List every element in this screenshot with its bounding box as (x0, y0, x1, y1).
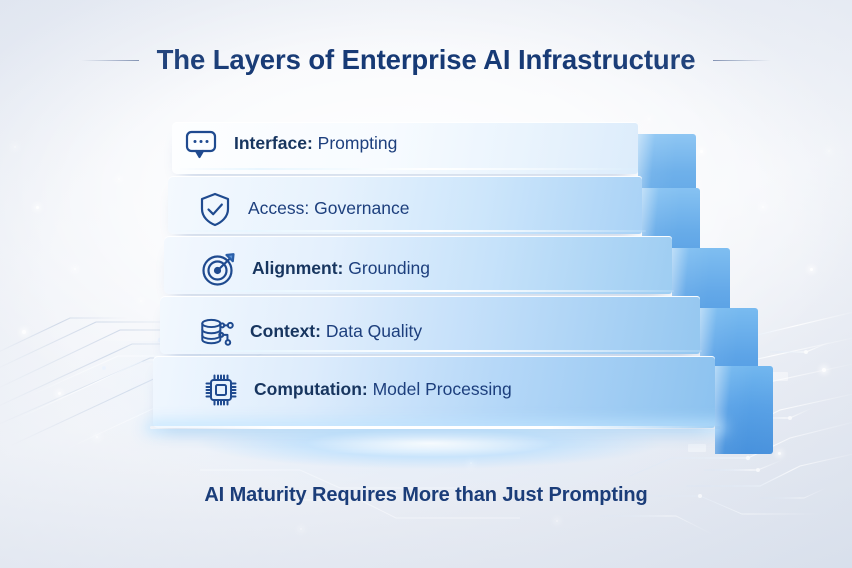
layer-row-computation[interactable]: Computation: Model Processing (202, 371, 512, 409)
slab-interface-top-edge (176, 168, 638, 170)
layer-label-alignment: Alignment: Grounding (252, 260, 430, 278)
slab-access-top-edge (170, 230, 646, 232)
slab-computation-bottom-edge (150, 426, 720, 429)
layer-row-interface[interactable]: Interface: Prompting (182, 125, 397, 163)
layer-label-bold: Alignment: (252, 258, 343, 278)
layer-label-bold: Context: (250, 321, 321, 341)
database-network-icon (198, 313, 236, 351)
layer-row-access[interactable]: Access: Governance (196, 190, 409, 228)
speech-bubble-icon (182, 125, 220, 163)
footer-subtitle: AI Maturity Requires More than Just Prom… (0, 484, 852, 507)
layer-label-computation: Computation: Model Processing (254, 381, 512, 399)
slab-side-face (715, 366, 773, 454)
layer-label-rest: Data Quality (321, 321, 422, 341)
layer-label-bold: Access: (248, 198, 309, 218)
cpu-chip-icon (202, 371, 240, 409)
layer-label-rest: Prompting (313, 133, 398, 153)
layer-label-context: Context: Data Quality (250, 323, 422, 341)
target-arrow-icon (200, 250, 238, 288)
shield-check-icon (196, 190, 234, 228)
layer-row-context[interactable]: Context: Data Quality (198, 313, 422, 351)
slab-computation-side (715, 366, 773, 454)
layer-label-rest: Model Processing (368, 379, 512, 399)
layer-label-rest: Governance (309, 198, 409, 218)
layer-label-access: Access: Governance (248, 200, 409, 218)
layer-label-rest: Grounding (343, 258, 430, 278)
infographic-canvas: The Layers of Enterprise AI Infrastructu… (0, 0, 852, 568)
layer-row-alignment[interactable]: Alignment: Grounding (200, 250, 430, 288)
slab-alignment-top-edge (166, 290, 674, 292)
layer-label-bold: Interface: (234, 133, 313, 153)
layer-label-bold: Computation: (254, 379, 368, 399)
layer-label-interface: Interface: Prompting (234, 135, 397, 153)
layer-stack-diagram: Interface: Prompting Access: Governance (0, 0, 852, 568)
